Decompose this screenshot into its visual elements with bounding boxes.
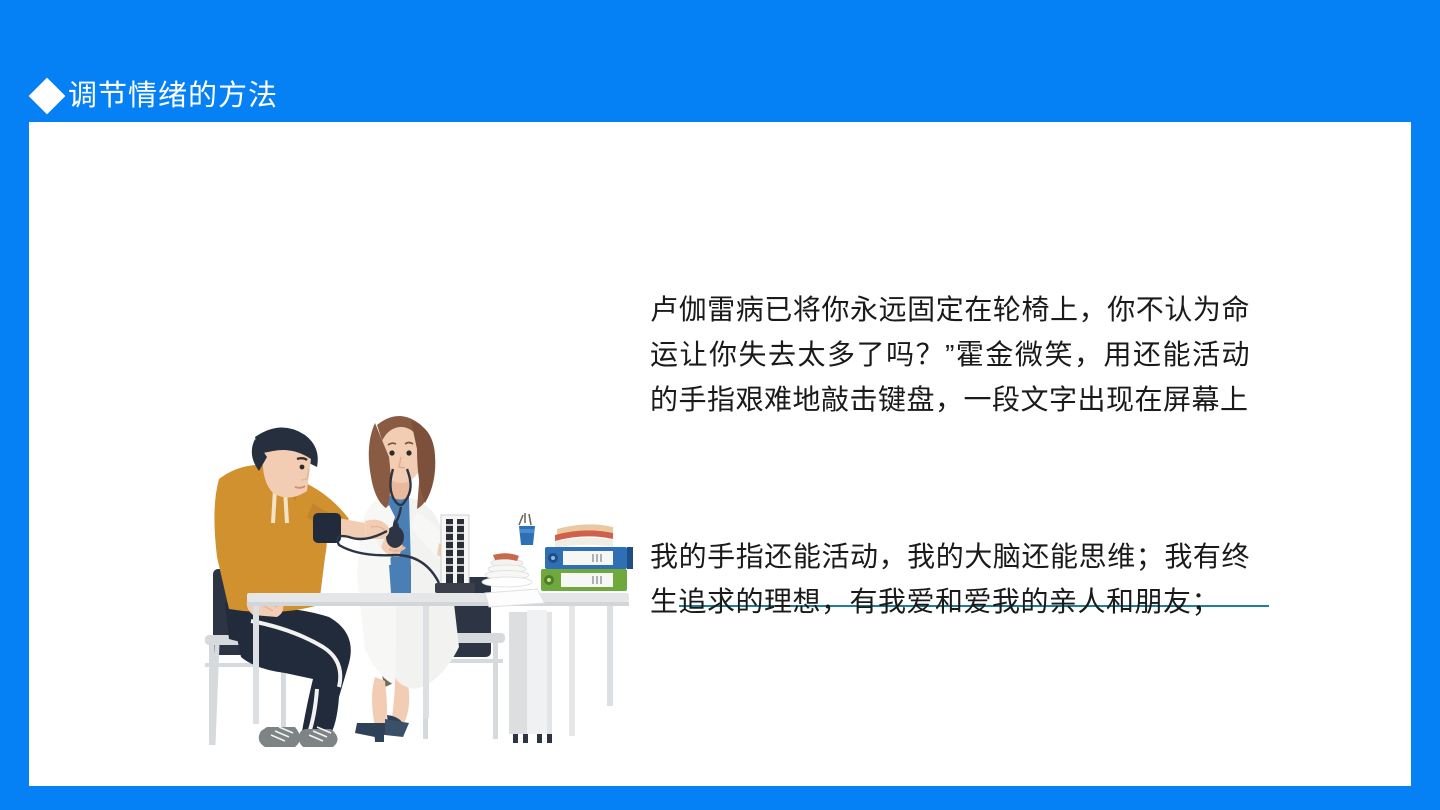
slide-canvas: 调节情绪的方法 (0, 0, 1440, 810)
doctor-measuring-blood-pressure-illustration (189, 397, 649, 767)
blood-pressure-monitor-icon (435, 515, 475, 593)
paragraph-two-block: 我的手指还能活动，我的大脑还能思维；我有终生追求的理想，有我爱和爱我的亲人和朋友… (650, 534, 1250, 624)
diamond-icon (29, 78, 66, 115)
paragraph-two: 我的手指还能活动，我的大脑还能思维；我有终生追求的理想，有我爱和爱我的亲人和朋友… (650, 534, 1250, 624)
paper-stack-icon (482, 553, 532, 587)
paragraph-one-block: 卢伽雷病已将你永远固定在轮椅上，你不认为命运让你失去太多了吗？”霍金微笑，用还能… (650, 287, 1250, 422)
slide-title-row: 调节情绪的方法 (34, 74, 278, 118)
page-title: 调节情绪的方法 (68, 82, 278, 111)
content-panel: 卢伽雷病已将你永远固定在轮椅上，你不认为命运让你失去太多了吗？”霍金微笑，用还能… (29, 122, 1411, 786)
pen-cup-icon (519, 513, 535, 545)
radiator-icon (509, 604, 575, 743)
binder-stack-icon (541, 524, 633, 591)
paragraph-one: 卢伽雷病已将你永远固定在轮椅上，你不认为命运让你失去太多了吗？”霍金微笑，用还能… (650, 287, 1250, 422)
